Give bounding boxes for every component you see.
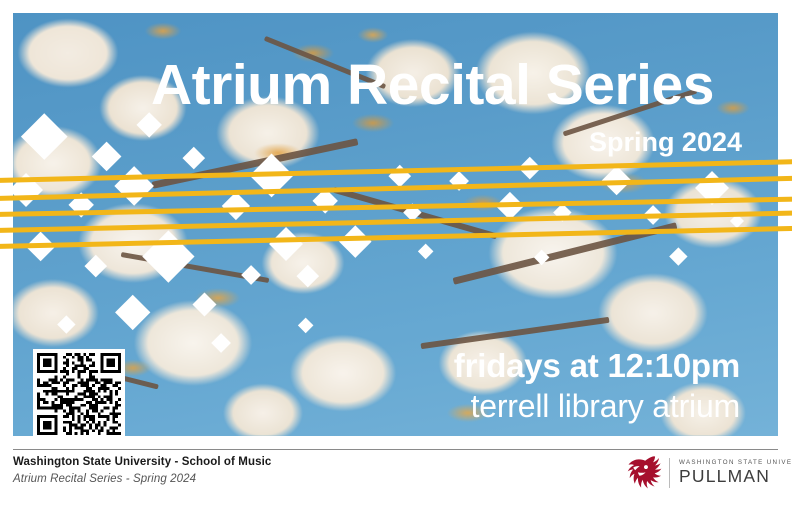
footer-divider xyxy=(13,449,778,450)
poster-canvas: Atrium Recital Series Spring 2024 friday… xyxy=(0,0,792,512)
footer-series: Atrium Recital Series - Spring 2024 xyxy=(13,473,196,485)
branch-shape xyxy=(332,187,497,240)
poster-subtitle: Spring 2024 xyxy=(589,127,742,158)
qr-code-image xyxy=(37,353,121,435)
page-title: Atrium Recital Series xyxy=(151,57,714,114)
branch-shape xyxy=(121,252,270,283)
logo-campus-name: PULLMAN xyxy=(679,468,792,486)
branch-shape xyxy=(152,138,359,189)
footer-organization: Washington State University - School of … xyxy=(13,456,271,468)
wsu-cougar-icon xyxy=(622,454,662,492)
qr-code[interactable] xyxy=(33,349,125,436)
logo-wordmark: WASHINGTON STATE UNIVERSITY PULLMAN xyxy=(679,460,792,486)
event-time: fridays at 12:10pm xyxy=(454,347,740,385)
wsu-logo: WASHINGTON STATE UNIVERSITY PULLMAN xyxy=(622,453,792,493)
logo-divider xyxy=(669,458,670,488)
branch-shape xyxy=(421,317,610,349)
event-location: terrell library atrium xyxy=(471,388,740,425)
hero-photo: Atrium Recital Series Spring 2024 friday… xyxy=(13,13,778,436)
